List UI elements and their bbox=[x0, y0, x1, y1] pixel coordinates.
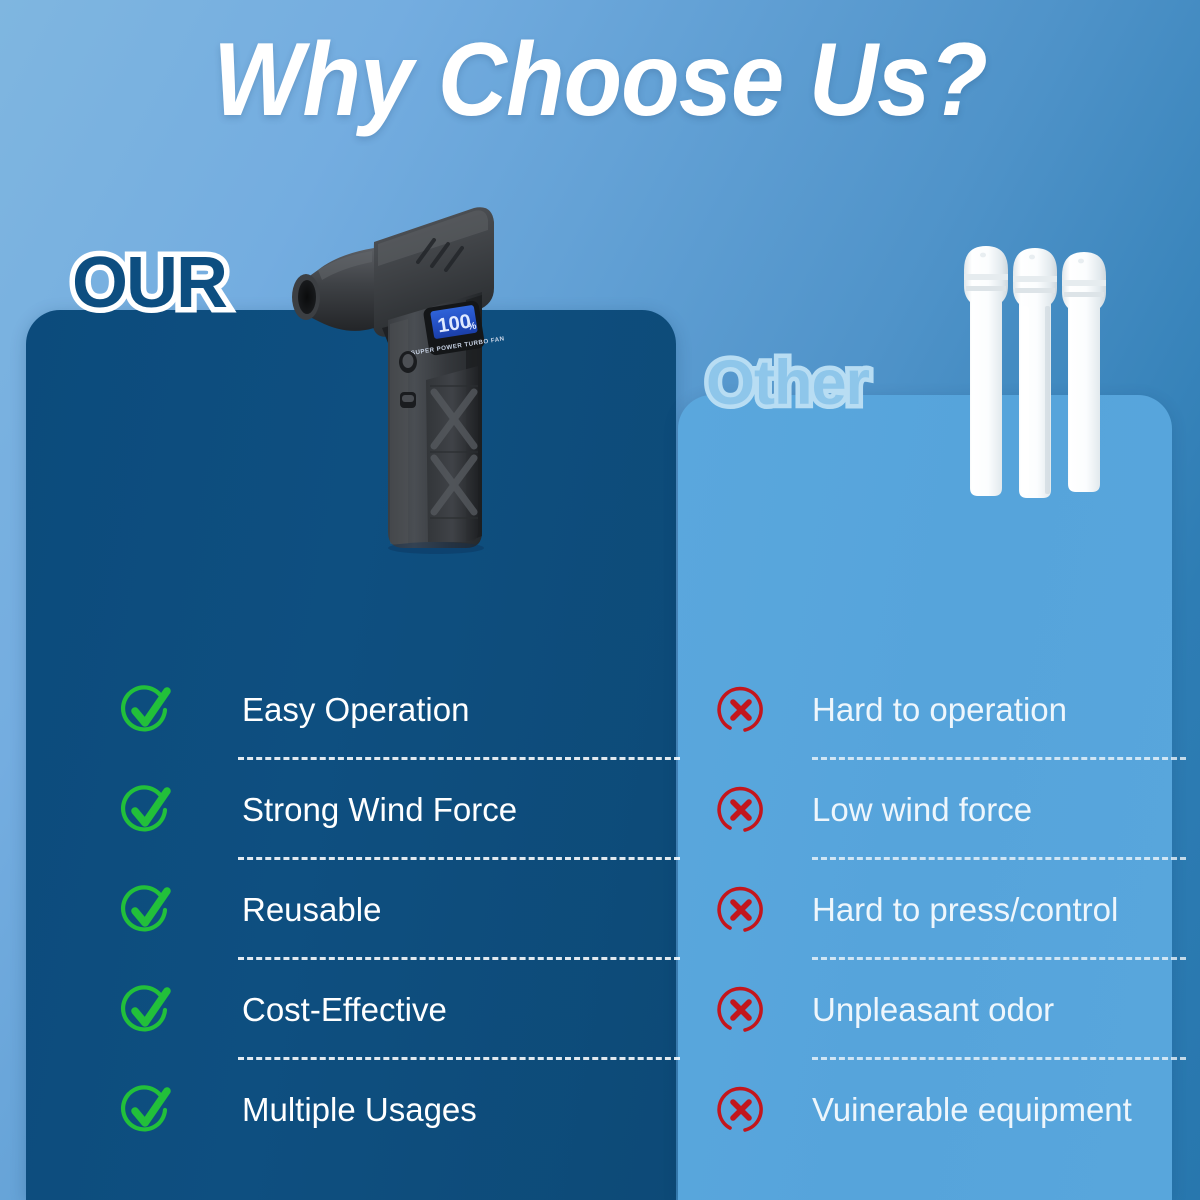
list-item-label: Hard to operation bbox=[812, 692, 1186, 728]
list-item: Hard to press/control bbox=[716, 860, 1186, 960]
list-item: Low wind force bbox=[716, 760, 1186, 860]
fan-display-unit: % bbox=[467, 321, 478, 333]
list-item: Multiple Usages bbox=[120, 1060, 680, 1160]
list-item: Vuinerable equipment bbox=[716, 1060, 1186, 1160]
x-circle-icon bbox=[716, 885, 766, 935]
list-item-label: Reusable bbox=[242, 892, 680, 928]
list-item-label: Vuinerable equipment bbox=[812, 1092, 1186, 1128]
turbo-jet-fan-image: 100 % SUPER POWER TURBO FAN bbox=[278, 196, 528, 556]
list-item-label: Cost-Effective bbox=[242, 992, 680, 1028]
our-column-label: OUR bbox=[72, 247, 226, 319]
list-item-label: Unpleasant odor bbox=[812, 992, 1186, 1028]
check-circle-icon bbox=[120, 983, 174, 1037]
list-item-label: Hard to press/control bbox=[812, 892, 1186, 928]
page-title: Why Choose Us? bbox=[48, 28, 1152, 132]
check-circle-icon bbox=[120, 683, 174, 737]
x-circle-icon bbox=[716, 985, 766, 1035]
list-item-label: Easy Operation bbox=[242, 692, 680, 728]
list-item: Strong Wind Force bbox=[120, 760, 680, 860]
spray-cans-image bbox=[950, 236, 1130, 506]
our-feature-list: Easy Operation Strong Wind Force Reusabl… bbox=[120, 660, 680, 1160]
list-item: Reusable bbox=[120, 860, 680, 960]
other-column-label: Other bbox=[706, 352, 869, 415]
list-item: Unpleasant odor bbox=[716, 960, 1186, 1060]
x-circle-icon bbox=[716, 1085, 766, 1135]
x-circle-icon bbox=[716, 785, 766, 835]
list-item: Cost-Effective bbox=[120, 960, 680, 1060]
list-item: Hard to operation bbox=[716, 660, 1186, 760]
other-feature-list: Hard to operation Low wind force Hard to… bbox=[716, 660, 1186, 1160]
list-item-label: Strong Wind Force bbox=[242, 792, 680, 828]
list-item-label: Multiple Usages bbox=[242, 1092, 680, 1128]
list-item-label: Low wind force bbox=[812, 792, 1186, 828]
check-circle-icon bbox=[120, 783, 174, 837]
check-circle-icon bbox=[120, 1083, 174, 1137]
list-item: Easy Operation bbox=[120, 660, 680, 760]
infographic-canvas: Why Choose Us? bbox=[0, 0, 1200, 1200]
x-circle-icon bbox=[716, 685, 766, 735]
check-circle-icon bbox=[120, 883, 174, 937]
